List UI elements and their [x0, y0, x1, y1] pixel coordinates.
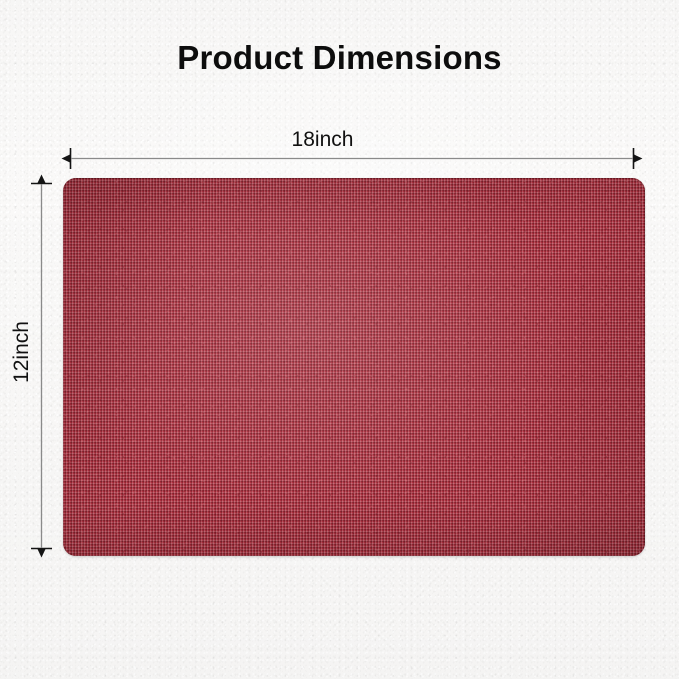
product-dimensions-figure: Product Dimensions 18inch 12inch — [0, 0, 679, 679]
height-dimension-label: 12inch — [10, 321, 34, 383]
width-dimension-label: 18inch — [0, 128, 645, 152]
fabric-shading-overlay — [63, 178, 645, 556]
product-placemat — [63, 178, 645, 556]
page-title: Product Dimensions — [0, 38, 679, 78]
